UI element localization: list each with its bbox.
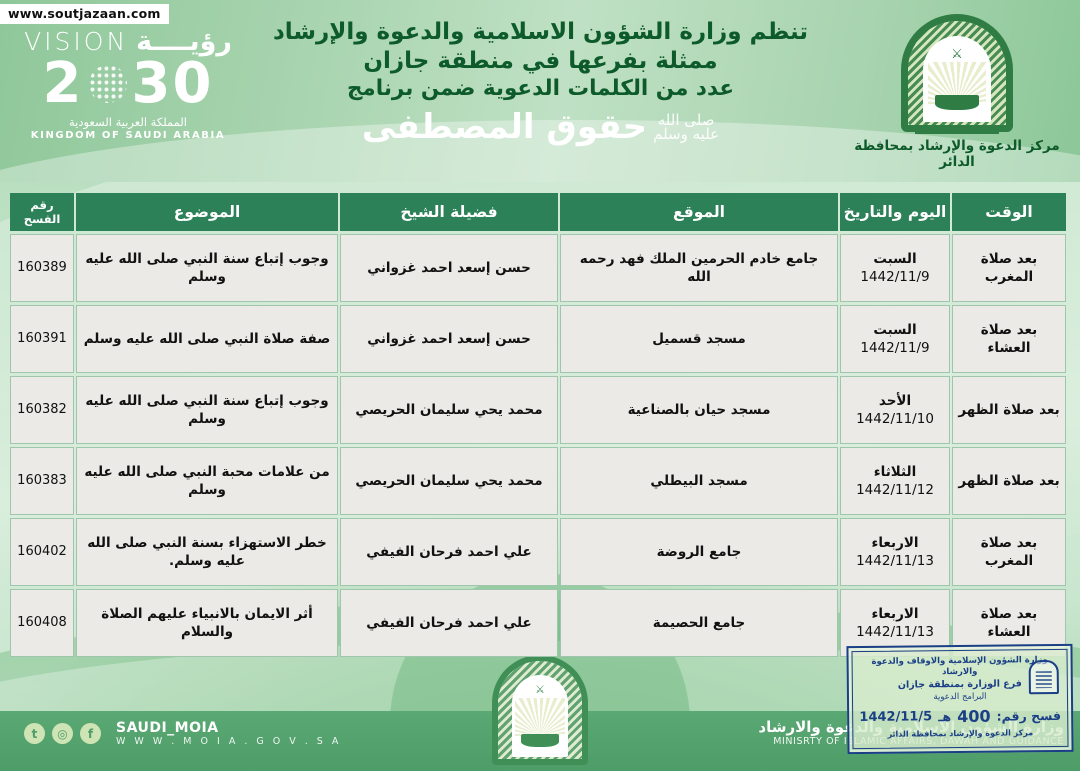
stamp-permit-number: 400: [957, 707, 991, 726]
cell-place: مسجد البيطلي: [560, 447, 838, 515]
program-title: حقوق المصطفى: [362, 107, 647, 147]
stamp-line-5: مركز الدعوة والإرشاد بمحافظة الدائر: [859, 728, 1061, 739]
cell-topic: أثر الايمان بالانبياء عليهم الصلاة والسل…: [76, 589, 338, 657]
column-header-permit: رقم الفسح: [10, 193, 74, 231]
table-row: بعد صلاة الظهر الثلاثاء 1442/11/12 مسجد …: [10, 447, 1066, 515]
cell-place: جامع خادم الحرمين الملك فهد رحمه الله: [560, 234, 838, 302]
source-watermark: www.soutjazaan.com: [0, 4, 169, 24]
cell-sheikh: محمد يحي سليمان الحريصي: [340, 376, 558, 444]
salla-alayhi-wasallam: صلى اللهعليه وسلم: [653, 113, 719, 142]
stamp-permit-row: فسح رقم: 400 هـ 1442/11/5: [859, 706, 1061, 727]
table-row: بعد صلاة المغرب السبت 1442/11/9 جامع خاد…: [10, 234, 1066, 302]
cell-date: الثلاثاء 1442/11/12: [840, 447, 950, 515]
cell-time: بعد صلاة المغرب: [952, 234, 1066, 302]
schedule-table: الوقت اليوم والتاريخ الموقع فضيلة الشيخ …: [8, 190, 1068, 660]
poster-header-text: تنظم وزارة الشؤون الاسلامية والدعوة والإ…: [258, 18, 823, 147]
poster-page: www.soutjazaan.com VISION رؤيــــة 230 ا…: [0, 0, 1080, 771]
table-row: بعد صلاة الظهر الأحد 1442/11/10 مسجد حيا…: [10, 376, 1066, 444]
cell-topic: صفة صلاة النبي صلى الله عليه وسلم: [76, 305, 338, 373]
cell-permit: 160408: [10, 589, 74, 657]
cell-topic: خطر الاستهزاء بسنة النبي صلى الله عليه و…: [76, 518, 338, 586]
footer-website[interactable]: W W W . M O I A . G O V . S A: [116, 736, 341, 747]
cell-sheikh: حسن إسعد احمد غزواني: [340, 305, 558, 373]
footer-handle: SAUDI_MOIA: [116, 720, 341, 736]
cell-sheikh: محمد يحي سليمان الحريصي: [340, 447, 558, 515]
table-row: بعد صلاة المغرب الاربعاء 1442/11/13 جامع…: [10, 518, 1066, 586]
cell-permit: 160402: [10, 518, 74, 586]
cell-topic: من علامات محبة النبي صلى الله عليه وسلم: [76, 447, 338, 515]
footer-social: t ◎ f SAUDI_MOIA W W W . M O I A . G O V…: [24, 720, 341, 747]
cell-place: جامع الروضة: [560, 518, 838, 586]
vision-2030-logo: VISION رؤيــــة 230 المملكة العربية السع…: [18, 28, 238, 141]
column-header-sheikh: فضيلة الشيخ: [340, 193, 558, 231]
cell-permit: 160383: [10, 447, 74, 515]
vision-kingdom-en: KINGDOM OF SAUDI ARABIA: [18, 130, 238, 141]
column-header-time: الوقت: [952, 193, 1066, 231]
table-row: بعد صلاة العشاء السبت 1442/11/9 مسجد قسم…: [10, 305, 1066, 373]
footer-mosque-emblem: ⚔: [492, 655, 588, 765]
palm-swords-icon: [85, 61, 131, 107]
schedule-table-body: بعد صلاة المغرب السبت 1442/11/9 جامع خاد…: [10, 234, 1066, 657]
stamp-permit-label: فسح رقم:: [996, 708, 1061, 724]
cell-sheikh: حسن إسعد احمد غزواني: [340, 234, 558, 302]
header-line-1: تنظم وزارة الشؤون الاسلامية والدعوة والإ…: [258, 18, 823, 47]
vision-number: 230: [18, 57, 238, 112]
cell-sheikh: علي احمد فرحان الفيفي: [340, 518, 558, 586]
program-title-row: صلى اللهعليه وسلم حقوق المصطفى: [258, 107, 823, 147]
cell-date: الاربعاء 1442/11/13: [840, 518, 950, 586]
cell-permit: 160389: [10, 234, 74, 302]
cell-date: الأحد 1442/11/10: [840, 376, 950, 444]
facebook-icon[interactable]: f: [80, 723, 101, 744]
cell-place: مسجد حيان بالصناعية: [560, 376, 838, 444]
table-header-row: الوقت اليوم والتاريخ الموقع فضيلة الشيخ …: [10, 193, 1066, 231]
palm-swords-icon: ⚔: [951, 48, 963, 61]
cell-time: بعد صلاة الظهر: [952, 376, 1066, 444]
approval-stamp: وزارة الشؤون الإسلامية والاوقاف والدعوة …: [846, 644, 1073, 754]
dawah-center-caption: مركز الدعوة والإرشاد بمحافظة الدائر: [850, 138, 1064, 170]
quran-book-icon: [935, 95, 979, 110]
quran-book-icon: [521, 734, 559, 747]
cell-time: بعد صلاة المغرب: [952, 518, 1066, 586]
schedule-table-wrapper: الوقت اليوم والتاريخ الموقع فضيلة الشيخ …: [12, 190, 1068, 660]
cell-time: بعد صلاة الظهر: [952, 447, 1066, 515]
cell-sheikh: علي احمد فرحان الفيفي: [340, 589, 558, 657]
vision-kingdom-ar: المملكة العربية السعودية: [18, 115, 238, 129]
footer-handle-block: SAUDI_MOIA W W W . M O I A . G O V . S A: [116, 720, 341, 747]
cell-time: بعد صلاة العشاء: [952, 305, 1066, 373]
stamp-date: 1442/11/5: [859, 709, 932, 725]
palm-swords-icon: ⚔: [535, 683, 545, 696]
cell-place: مسجد قسميل: [560, 305, 838, 373]
header-line-3: عدد من الكلمات الدعوية ضمن برنامج: [258, 75, 823, 103]
instagram-icon[interactable]: ◎: [52, 723, 73, 744]
cell-topic: وجوب إتباع سنة النبي صلى الله عليه وسلم: [76, 234, 338, 302]
cell-date: السبت 1442/11/9: [840, 305, 950, 373]
stamp-hijri-label: هـ: [938, 709, 951, 724]
dawah-center-logo: ⚔ مركز الدعوة والإرشاد بمحافظة الدائر: [850, 14, 1064, 170]
mosque-arch-icon: ⚔: [901, 14, 1013, 132]
cell-date: السبت 1442/11/9: [840, 234, 950, 302]
twitter-icon[interactable]: t: [24, 723, 45, 744]
header-line-2: ممثلة بفرعها في منطقة جازان: [258, 47, 823, 76]
stamp-seal-icon: [1029, 660, 1059, 694]
cell-permit: 160382: [10, 376, 74, 444]
cell-topic: وجوب إتباع سنة النبي صلى الله عليه وسلم: [76, 376, 338, 444]
cell-place: جامع الحصيمة: [560, 589, 838, 657]
column-header-date: اليوم والتاريخ: [840, 193, 950, 231]
column-header-topic: الموضوع: [76, 193, 338, 231]
cell-permit: 160391: [10, 305, 74, 373]
column-header-place: الموقع: [560, 193, 838, 231]
